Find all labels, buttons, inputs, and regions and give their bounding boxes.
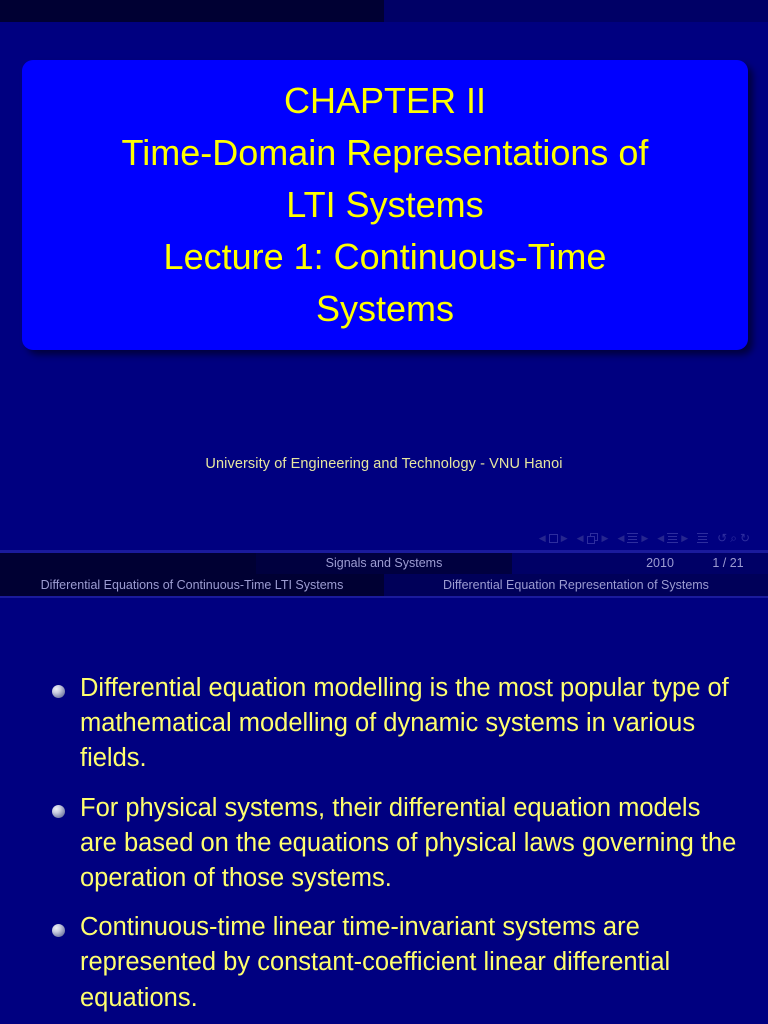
beamer-nav-back-icon[interactable]: ↺	[717, 532, 727, 544]
beamer-nav-search-icon[interactable]: ⌕	[730, 532, 737, 544]
footer-row-title: Signals and Systems 2010 1 / 21	[0, 553, 768, 574]
footer-section-name[interactable]: Differential Equations of Continuous-Tim…	[0, 574, 384, 596]
beamer-nav-section-icon[interactable]	[667, 533, 678, 544]
footer-row-section: Differential Equations of Continuous-Tim…	[0, 574, 768, 596]
page-title: CHAPTER II Time-Domain Representations o…	[110, 75, 661, 336]
list-item: Continuous-time linear time-invariant sy…	[52, 910, 742, 1016]
beamer-nav-subsection-icon[interactable]	[627, 533, 638, 544]
footer-separator-bottom	[0, 596, 768, 598]
beamer-nav-prev-subsection-arrow-icon[interactable]: ◀	[617, 534, 624, 543]
list-item: For physical systems, their differential…	[52, 791, 742, 897]
title-slide: CHAPTER II Time-Domain Representations o…	[0, 0, 768, 598]
footer-row-title-bg-left	[0, 553, 256, 574]
content-slide: Differential equation modelling is the m…	[0, 599, 768, 1024]
beamer-navigation-bar[interactable]: ◀ ▶ ◀ ▶ ◀ ▶ ◀ ▶ ↺ ⌕ ↻	[539, 529, 750, 547]
footer-page-number: 1 / 21	[700, 553, 756, 574]
nav-subsection-group[interactable]: ◀ ▶	[617, 533, 648, 544]
beamer-nav-forward-icon[interactable]: ↻	[740, 532, 750, 544]
footer-date: 2010	[630, 553, 690, 574]
beamer-nav-doc-icon[interactable]	[697, 533, 708, 544]
beamer-nav-prev-frame-arrow-icon[interactable]: ◀	[577, 534, 584, 543]
nav-slide-group[interactable]: ◀ ▶	[539, 534, 568, 543]
footer-subsection-name[interactable]: Differential Equation Representation of …	[384, 574, 768, 596]
bullet-sphere-icon	[52, 924, 65, 937]
nav-section-group[interactable]: ◀ ▶	[657, 533, 688, 544]
title-box: CHAPTER II Time-Domain Representations o…	[22, 60, 748, 350]
beamer-nav-next-section-arrow-icon[interactable]: ▶	[681, 534, 688, 543]
beamer-nav-prev-slide-arrow-icon[interactable]: ◀	[539, 534, 546, 543]
bullet-text: Differential equation modelling is the m…	[80, 671, 742, 777]
bullet-list: Differential equation modelling is the m…	[52, 671, 742, 1024]
header-bar-left	[0, 0, 384, 22]
institution-line: University of Engineering and Technology…	[0, 456, 768, 472]
bullet-text: For physical systems, their differential…	[80, 791, 742, 897]
beamer-nav-next-frame-arrow-icon[interactable]: ▶	[602, 534, 609, 543]
bullet-sphere-icon	[52, 805, 65, 818]
beamer-nav-next-subsection-arrow-icon[interactable]: ▶	[641, 534, 648, 543]
beamer-nav-slide-icon[interactable]	[549, 534, 558, 543]
list-item: Differential equation modelling is the m…	[52, 671, 742, 777]
bullet-text: Continuous-time linear time-invariant sy…	[80, 910, 742, 1016]
header-bar-right	[384, 0, 768, 22]
bullet-sphere-icon	[52, 685, 65, 698]
beamer-nav-frame-icon[interactable]	[587, 533, 599, 544]
beamer-nav-prev-section-arrow-icon[interactable]: ◀	[657, 534, 664, 543]
nav-doc-group[interactable]	[697, 533, 708, 544]
nav-frame-group[interactable]: ◀ ▶	[577, 533, 609, 544]
beamer-nav-next-slide-arrow-icon[interactable]: ▶	[561, 534, 568, 543]
nav-history-group[interactable]: ↺ ⌕ ↻	[717, 532, 750, 544]
footer-short-title: Signals and Systems	[256, 553, 512, 574]
